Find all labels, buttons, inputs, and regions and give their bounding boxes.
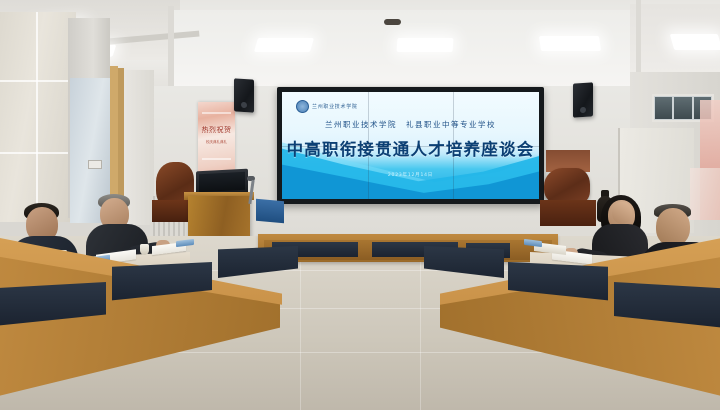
- tile-seam: [36, 12, 38, 222]
- banner-subtitle: 校庆典礼典礼: [198, 140, 235, 145]
- tile-seam: [0, 80, 76, 82]
- smoke-detector-icon: [384, 19, 401, 25]
- banner-strip: [202, 158, 231, 160]
- banner-strip: [202, 112, 231, 114]
- face: [612, 202, 632, 224]
- ceiling-beam-vertical-left: [168, 6, 174, 92]
- led-video-wall[interactable]: 兰州职业技术学院 兰州职业技术学院 礼县职业中等专业学校 中高职衔接贯通人才培养…: [277, 87, 544, 204]
- speaker-driver-icon: [580, 107, 586, 113]
- wall-speaker-left: [234, 78, 254, 112]
- banner-title: 热烈祝贺: [198, 126, 235, 134]
- screenshot-root: 热烈祝贺 校庆典礼典礼 兰州职业技术学院 兰州职业技术学院 礼县职业中等专业学校…: [0, 0, 720, 410]
- speaker-driver-icon: [241, 102, 247, 108]
- ceiling-light-panel: [539, 36, 601, 51]
- auxiliary-monitor: [256, 199, 284, 223]
- paper-cup[interactable]: [140, 244, 149, 255]
- right-wall-panel: [690, 168, 720, 220]
- left-tiled-wall: [0, 12, 76, 222]
- window-pane: [655, 97, 672, 119]
- ceiling-light-panel: [397, 38, 454, 52]
- ceiling-light-panel: [254, 38, 314, 52]
- wood-carving-stand: [540, 200, 596, 226]
- window-pane: [674, 97, 691, 119]
- left-door-handle[interactable]: [88, 160, 102, 169]
- floor-seam: [420, 244, 421, 410]
- laptop-screen: [199, 172, 245, 192]
- tile-seam: [0, 152, 76, 154]
- wall-speaker-right: [573, 82, 593, 117]
- floor-seam: [110, 352, 610, 353]
- wood-carving-decoration: [544, 168, 590, 204]
- head: [656, 208, 690, 246]
- video-wall-display: 兰州职业技术学院 兰州职业技术学院 礼县职业中等专业学校 中高职衔接贯通人才培养…: [282, 92, 539, 199]
- video-wall-bezel-grid: [282, 92, 539, 199]
- ceiling-light-panel: [670, 34, 720, 50]
- panel-seam-horizontal: [282, 146, 539, 147]
- floor-seam: [300, 244, 301, 410]
